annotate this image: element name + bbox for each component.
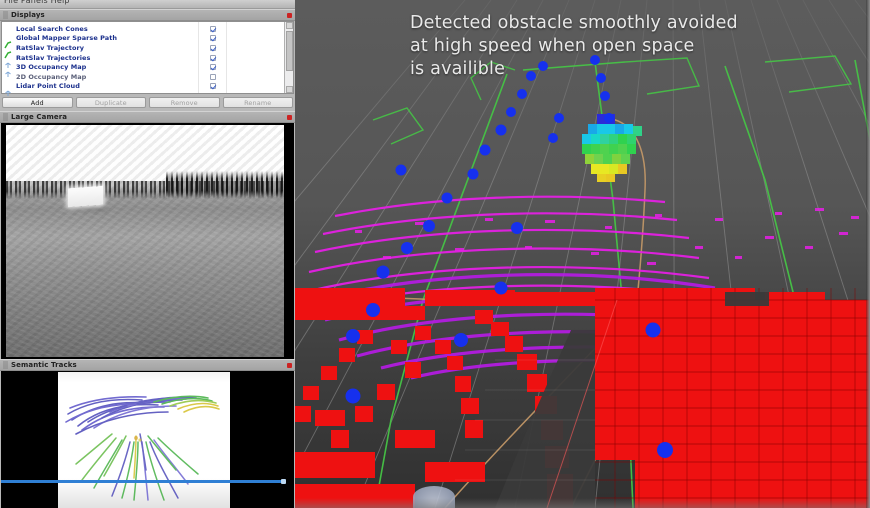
drag-grip-icon[interactable] [3, 113, 8, 121]
list-item[interactable]: Local Search Cones [4, 24, 198, 34]
occupancy-map-icon [4, 63, 13, 71]
list-item[interactable]: Global Mapper Sparse Path [4, 34, 198, 44]
point-cloud-icon [4, 82, 13, 90]
display-list-value-column [226, 22, 284, 93]
3d-viewport[interactable]: Detected obstacle smoothly avoided at hi… [295, 0, 870, 508]
close-icon[interactable] [287, 115, 292, 120]
drag-grip-icon[interactable] [3, 361, 8, 369]
displays-panel-titlebar[interactable]: Displays [0, 9, 295, 21]
row-enabled-checkbox[interactable] [199, 43, 226, 53]
drag-grip-icon[interactable] [3, 11, 8, 19]
tracks-panel: Semantic Tracks [0, 359, 295, 508]
menu-bar-label: File Panels Help [4, 0, 70, 5]
list-item-label: RatSlav Trajectories [16, 54, 90, 62]
rename-button[interactable]: Rename [223, 97, 294, 108]
path-icon [4, 34, 13, 42]
duplicate-button[interactable]: Duplicate [76, 97, 147, 108]
close-icon[interactable] [287, 13, 292, 18]
tracks-view[interactable] [1, 371, 294, 508]
menu-bar[interactable]: File Panels Help [0, 0, 295, 9]
list-item-label: 2D Occupancy Map [16, 73, 86, 81]
list-item-label: 3D Occupancy Map [16, 63, 86, 71]
camera-panel-titlebar[interactable]: Large Camera [0, 111, 295, 123]
list-item[interactable]: RatSlav Trajectories [4, 53, 198, 63]
row-enabled-checkbox[interactable] [199, 82, 226, 92]
row-enabled-checkbox[interactable] [199, 24, 226, 34]
display-list-scrollbar[interactable] [284, 22, 293, 93]
list-item[interactable]: Lidar Point Cloud [4, 82, 198, 92]
list-item-label: Local Search Cones [16, 25, 88, 33]
close-icon[interactable] [287, 363, 292, 368]
displays-button-row: Add Duplicate Remove Rename [0, 94, 295, 111]
left-dock: File Panels Help Displays Local Search C… [0, 0, 295, 508]
list-item[interactable]: 2D Occupancy Map [4, 72, 198, 82]
path-icon [4, 44, 13, 52]
tracks-panel-titlebar[interactable]: Semantic Tracks [0, 359, 295, 371]
row-enabled-checkbox[interactable] [199, 72, 226, 82]
list-item[interactable]: 3D Occupancy Map [4, 62, 198, 72]
camera-letterbox-right [284, 123, 294, 359]
display-list-checkboxes [198, 22, 226, 93]
viewport-bottom-fade [295, 498, 870, 508]
list-item-label: Global Mapper Sparse Path [16, 34, 117, 42]
detected-obstacle [582, 114, 642, 182]
grid-map-icon [4, 73, 13, 81]
scrollbar-thumb[interactable] [286, 31, 293, 71]
point-cloud-icon [4, 25, 13, 33]
playback-knob[interactable] [281, 479, 286, 484]
obstacle-in-camera [68, 186, 103, 207]
displays-panel-title: Displays [11, 11, 45, 19]
add-button[interactable]: Add [2, 97, 73, 108]
rviz-window: File Panels Help Displays Local Search C… [0, 0, 870, 508]
camera-panel: Large Camera [0, 111, 295, 359]
displays-panel: Displays Local Search Cones Global Mappe… [0, 9, 295, 111]
axes-icon [4, 54, 13, 62]
tracks-panel-title: Semantic Tracks [11, 361, 77, 369]
list-item-label: Lidar Point Cloud [16, 82, 80, 90]
list-item[interactable]: RatSlav Trajectory [4, 43, 198, 53]
remove-button[interactable]: Remove [149, 97, 220, 108]
list-item-label: RatSlav Trajectory [16, 44, 84, 52]
tree-line-right [166, 171, 284, 197]
display-list-names: Local Search Cones Global Mapper Sparse … [2, 22, 198, 93]
tracks-image [58, 372, 230, 508]
row-enabled-checkbox[interactable] [199, 62, 226, 72]
row-enabled-checkbox[interactable] [199, 34, 226, 44]
display-list[interactable]: Local Search Cones Global Mapper Sparse … [1, 21, 294, 94]
camera-image [6, 125, 284, 357]
camera-panel-title: Large Camera [11, 113, 67, 121]
viewport-right-edge [866, 0, 870, 508]
scroll-up-icon[interactable] [286, 22, 293, 29]
camera-view[interactable] [1, 123, 294, 359]
trajectory-bundle [58, 372, 230, 508]
playback-progress-bar[interactable] [1, 480, 284, 483]
point-cloud-overlay [295, 0, 870, 508]
row-enabled-checkbox[interactable] [199, 53, 226, 63]
scroll-down-icon[interactable] [286, 86, 293, 93]
